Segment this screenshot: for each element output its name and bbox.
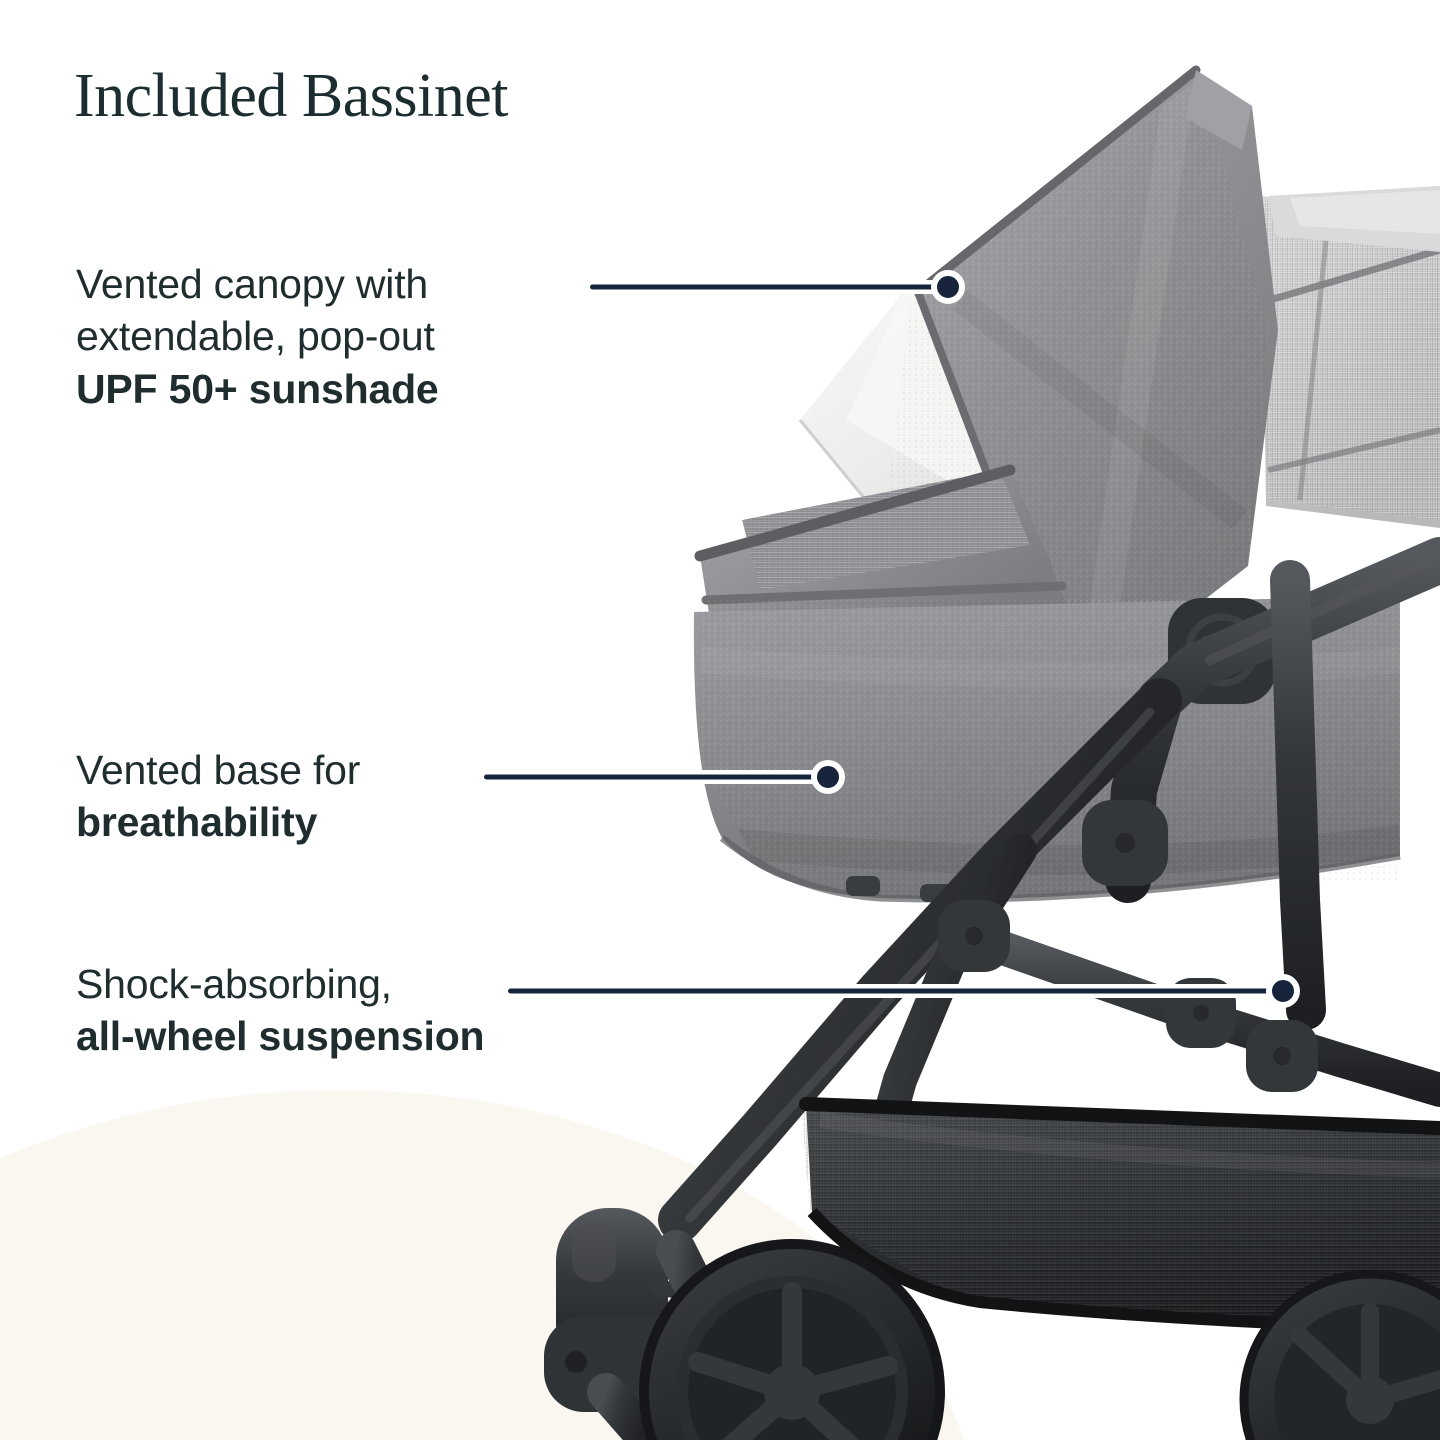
callout-1-line-1: Vented canopy with	[76, 258, 616, 310]
leader-dot-suspension	[1266, 974, 1300, 1008]
callout-1-bold: UPF 50+ sunshade	[76, 363, 616, 415]
leader-dot-canopy	[931, 270, 965, 304]
callout-vented-canopy: Vented canopy with extendable, pop-out U…	[76, 258, 616, 415]
callout-vented-base: Vented base for breathability	[76, 744, 616, 849]
callout-3-bold: all-wheel suspension	[76, 1010, 656, 1062]
infographic-page: ub	[0, 0, 1440, 1440]
callout-shock-absorbing: Shock-absorbing, all-wheel suspension	[76, 958, 656, 1063]
callout-1-line-2: extendable, pop-out	[76, 310, 616, 362]
callout-2-line-1: Vented base for	[76, 744, 616, 796]
callout-3-line-1: Shock-absorbing,	[76, 958, 656, 1010]
page-title: Included Bassinet	[74, 64, 508, 129]
leader-dot-base	[811, 760, 845, 794]
product-image: ub	[0, 0, 1440, 1440]
leader-line-1-stroke	[590, 285, 948, 290]
callout-2-bold: breathability	[76, 796, 616, 848]
